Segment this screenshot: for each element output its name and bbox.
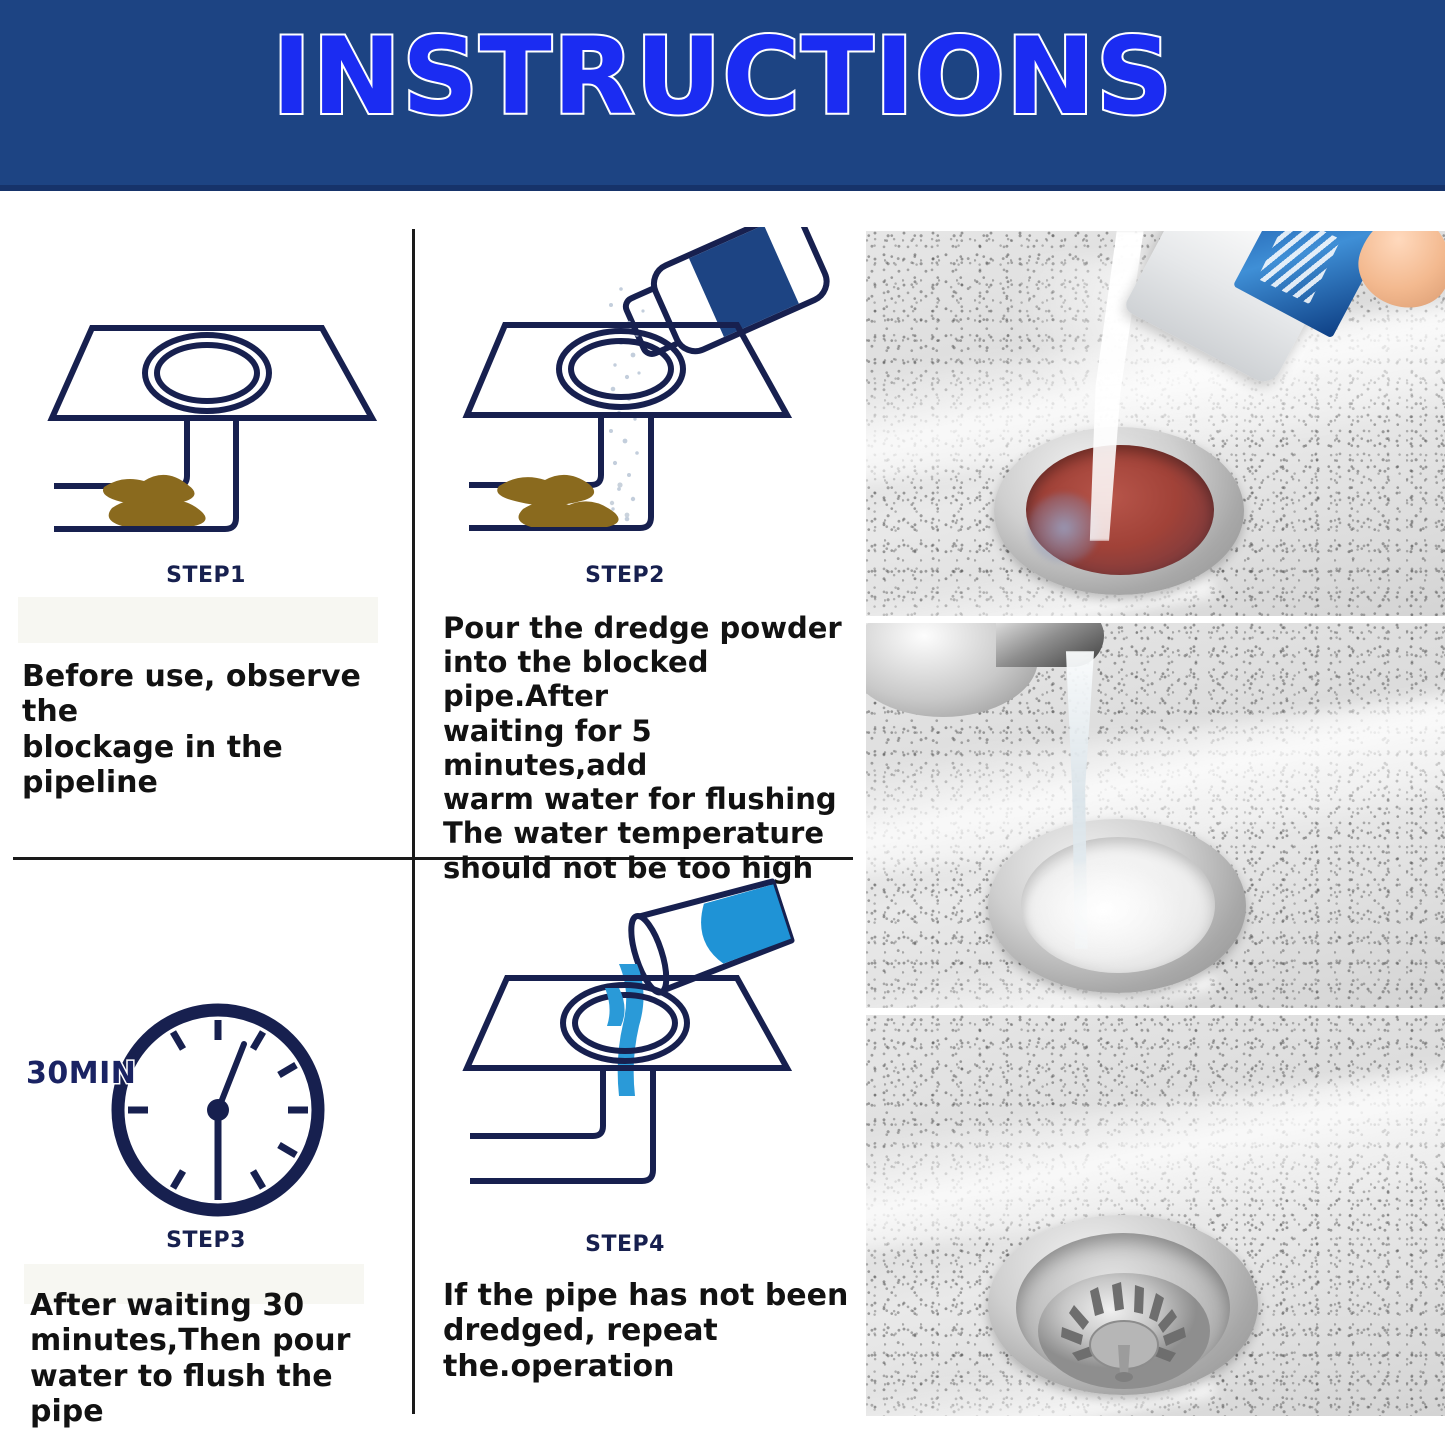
step4-caption: If the pipe has not been dredged, repeat… — [443, 1278, 863, 1384]
step1-label: STEP1 — [0, 563, 412, 588]
photo-column — [866, 231, 1445, 1416]
step3-clock — [0, 982, 412, 1252]
step2-diagram — [415, 227, 865, 587]
panel-step1: STEP1 Before use, observe the blockage i… — [0, 191, 412, 857]
photo-clean-drain — [866, 1015, 1445, 1416]
step4-diagram — [415, 868, 865, 1238]
step2-caption: Pour the dredge powder into the blocked … — [443, 611, 863, 885]
strainer-basket-icon — [1032, 1265, 1216, 1391]
content-area: STEP1 Before use, observe the blockage i… — [0, 191, 1445, 1421]
powder-bottle — [616, 227, 832, 371]
photo-powder-into-drain — [866, 231, 1445, 616]
page-title: INSTRUCTIONS — [0, 18, 1445, 137]
step2-label: STEP2 — [415, 563, 835, 588]
photo-water-into-drain — [866, 623, 1445, 1008]
step3-caption: After waiting 30 minutes,Then pour water… — [30, 1288, 410, 1430]
drain-blue-residue-1 — [1028, 493, 1100, 563]
foam-bubbles-photo-2 — [1028, 861, 1178, 961]
step3-label: STEP3 — [0, 1228, 412, 1253]
panel-step3: 30MIN STEP3 After waiting 30 minutes,The… — [0, 860, 412, 1421]
panel-step2: STEP2 Pour the dredge powder into the bl… — [415, 191, 865, 857]
panel-step4: STEP4 If the pipe has not been dredged, … — [415, 860, 865, 1421]
step4-label: STEP4 — [415, 1232, 835, 1257]
step1-caption: Before use, observe the blockage in the … — [22, 659, 402, 801]
step1-diagram — [0, 286, 412, 646]
instructions-infographic: INSTRUCTIONS STEP1 Before use, observe t… — [0, 0, 1445, 1421]
timer-label: 30MIN — [26, 1056, 136, 1091]
step1-tint — [18, 597, 378, 643]
blockage-clump-lower — [109, 500, 206, 526]
